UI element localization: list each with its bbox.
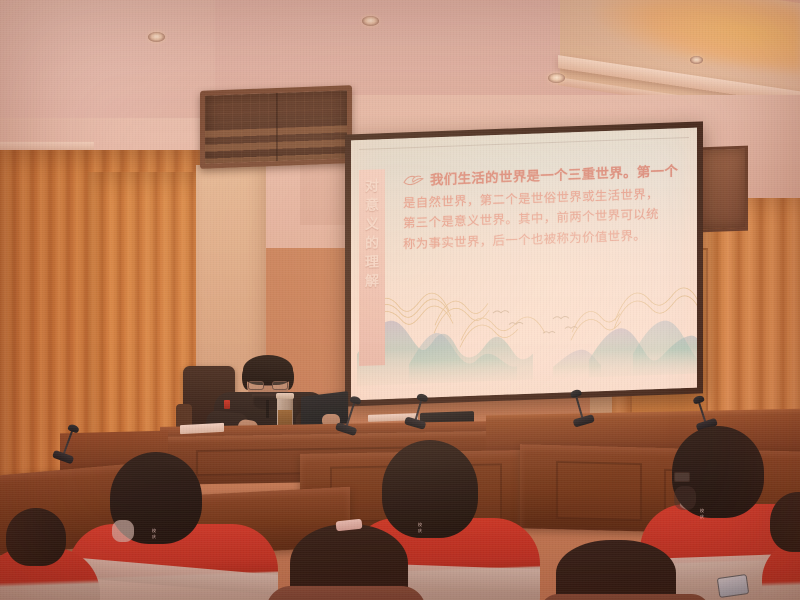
audience-head (6, 508, 66, 566)
audience-shoulders (266, 586, 426, 600)
slide-tab-char: 对 (365, 179, 379, 194)
downlight-icon (690, 56, 703, 64)
led-panel-seam (276, 93, 278, 161)
speaker-badge (224, 400, 230, 409)
slide-tab-char: 理 (365, 255, 379, 270)
slide-body-text: 我们生活的世界是一个三重世界。第一个 是自然世界，第二个是世俗世界或生活世界， … (403, 162, 681, 254)
slide-tab-char: 意 (365, 198, 379, 213)
slide-side-tab: 对 意 义 的 理 解 (359, 169, 385, 366)
slide-tab-char: 的 (365, 236, 379, 251)
tea-tumbler-lid (276, 393, 294, 399)
uniform-chest-logo: 校庆 (418, 522, 422, 534)
downlight-icon (548, 73, 565, 83)
bench-panel-right-1 (556, 461, 642, 521)
slide-tab-char: 义 (365, 217, 379, 232)
speaker-shirt-placket (266, 400, 269, 418)
uniform-chest-logo: 校庆 (152, 528, 156, 540)
projection-screen-frame: 对 意 义 的 理 解 我们生活的世界是一个三重世界。第一个 是自然世 (345, 121, 703, 406)
led-display-panel (200, 85, 352, 169)
audience-glasses (674, 472, 690, 482)
slide-border-hairline (359, 137, 689, 150)
face-mask (112, 520, 134, 542)
downlight-icon (148, 32, 165, 42)
uniform-chest-logo: 校庆 (700, 508, 704, 520)
projection-screen: 对 意 义 的 理 解 我们生活的世界是一个三重世界。第一个 是自然世 (351, 128, 697, 401)
slide-tab-char: 解 (365, 274, 379, 289)
ink-wash-mountains-decoration (357, 265, 697, 386)
glasses-bridge (264, 385, 272, 386)
glasses-lens-left (248, 381, 264, 390)
audience-hair-long (556, 540, 676, 600)
glasses-lens-right (272, 381, 288, 390)
lecture-hall-photo: 对 意 义 的 理 解 我们生活的世界是一个三重世界。第一个 是自然世 (0, 0, 800, 600)
speaker-glasses (248, 381, 288, 390)
face-mask (674, 486, 696, 510)
swallow-bird-ornament-icon (403, 173, 425, 186)
smartphone (717, 574, 749, 598)
audience-shoulders (540, 594, 710, 600)
downlight-icon (362, 16, 379, 26)
audience-head (382, 440, 478, 538)
